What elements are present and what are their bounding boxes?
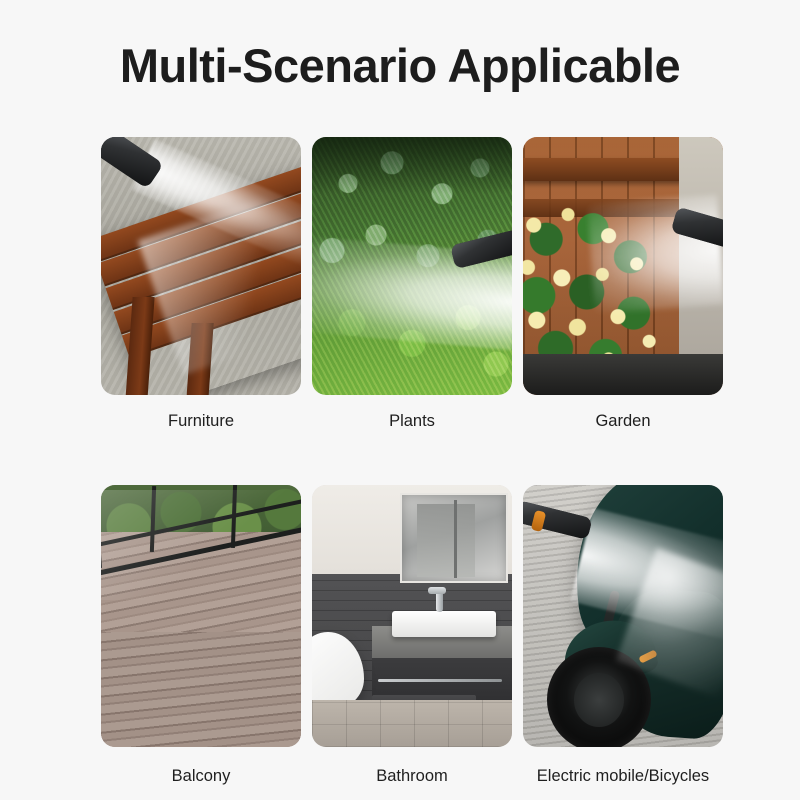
electric-mobile-photo	[523, 485, 723, 747]
balcony-photo	[101, 485, 301, 747]
tile-caption: Plants	[389, 412, 435, 431]
promo-page: Multi-Scenario Applicable	[0, 0, 800, 800]
sink-basin	[392, 611, 496, 637]
page-title: Multi-Scenario Applicable	[0, 38, 800, 93]
water-spray	[587, 195, 723, 314]
scenario-row-2: Balcony	[101, 485, 723, 786]
scenario-tile-balcony[interactable]: Balcony	[101, 485, 301, 786]
glass-sheen	[101, 490, 301, 600]
garden-photo	[523, 137, 723, 395]
scenario-tile-plants[interactable]: Plants	[312, 137, 512, 431]
tiled-floor	[312, 700, 512, 747]
plants-photo	[312, 137, 512, 395]
tile-caption: Bathroom	[376, 767, 448, 786]
scenario-grid: Furniture Plants	[101, 137, 723, 786]
scenario-row-1: Furniture Plants	[101, 137, 723, 431]
cabinet-handle	[378, 679, 502, 682]
scenario-tile-electric-mobile[interactable]: Electric mobile/Bicycles	[523, 485, 723, 786]
tile-caption: Balcony	[172, 767, 231, 786]
shower-reflection	[417, 504, 475, 577]
planter-tray	[523, 354, 723, 395]
scenario-tile-garden[interactable]: Garden	[523, 137, 723, 431]
scenario-tile-furniture[interactable]: Furniture	[101, 137, 301, 431]
shadow-gradient	[312, 137, 512, 194]
mirror-mullion	[454, 500, 457, 578]
deck-boards-lower	[101, 632, 301, 747]
tile-caption: Furniture	[168, 412, 234, 431]
tile-caption: Garden	[595, 412, 650, 431]
scenario-tile-bathroom[interactable]: Bathroom	[312, 485, 512, 786]
mirror-cabinet	[400, 493, 508, 583]
bathroom-photo	[312, 485, 512, 747]
tile-caption: Electric mobile/Bicycles	[537, 767, 709, 786]
furniture-photo	[101, 137, 301, 395]
faucet-icon	[436, 590, 443, 612]
glass-railing	[101, 490, 301, 600]
